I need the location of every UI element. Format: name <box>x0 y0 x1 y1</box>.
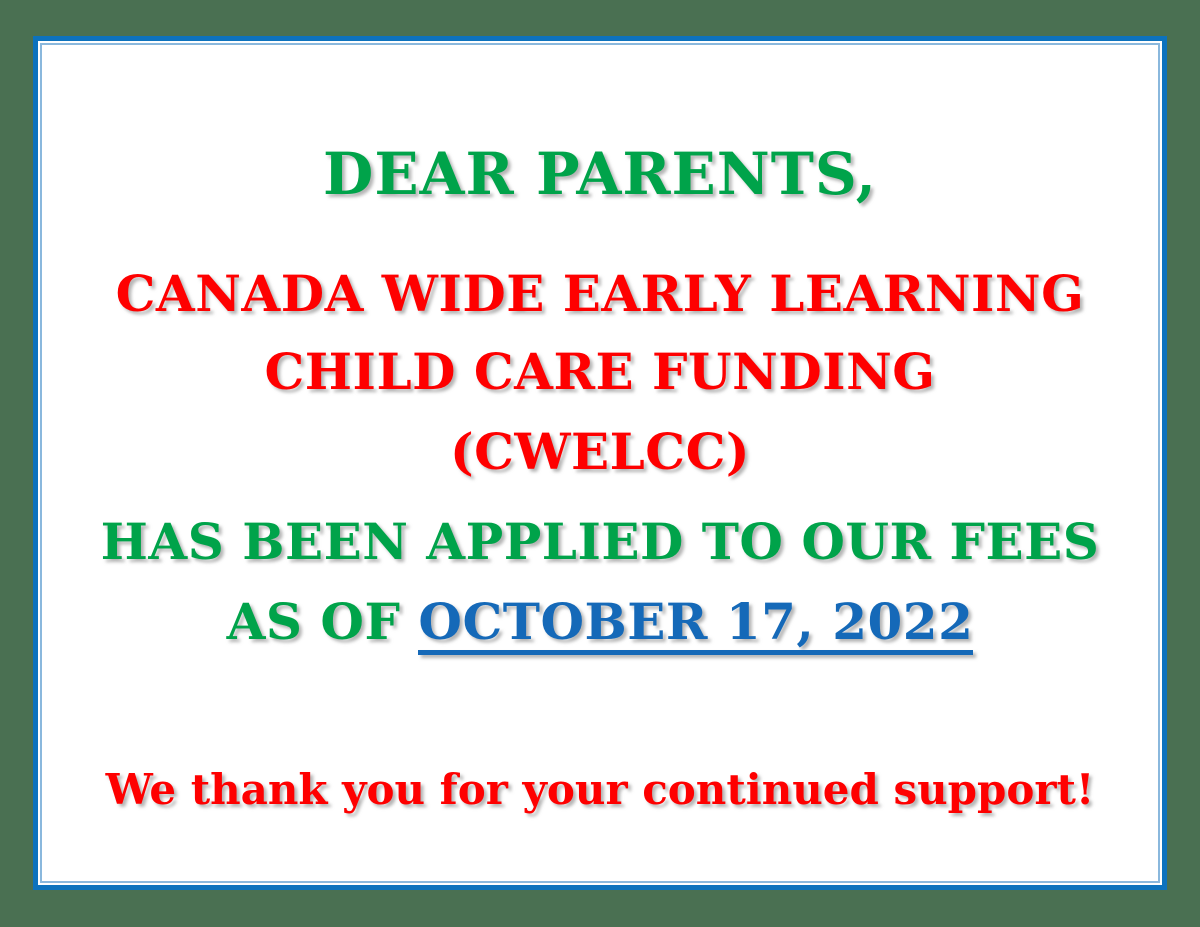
notice-body: DEAR PARENTS, CANADA WIDE EARLY LEARNING… <box>44 47 1156 879</box>
notice-effective-prefix: AS OF <box>227 592 419 651</box>
notice-effective-line: AS OF OCTOBER 17, 2022 <box>44 597 1156 649</box>
notice-closing-message: We thank you for your continued support! <box>44 769 1156 811</box>
notice-effective-date: OCTOBER 17, 2022 <box>418 597 973 649</box>
notice-program-line-2: CHILD CARE FUNDING <box>44 347 1156 397</box>
notice-program-acronym: (CWELCC) <box>44 427 1156 477</box>
notice-program-line-1: CANADA WIDE EARLY LEARNING <box>44 269 1156 319</box>
notice-salutation: DEAR PARENTS, <box>44 145 1156 203</box>
notice-applied-line: HAS BEEN APPLIED TO OUR FEES <box>44 517 1156 567</box>
